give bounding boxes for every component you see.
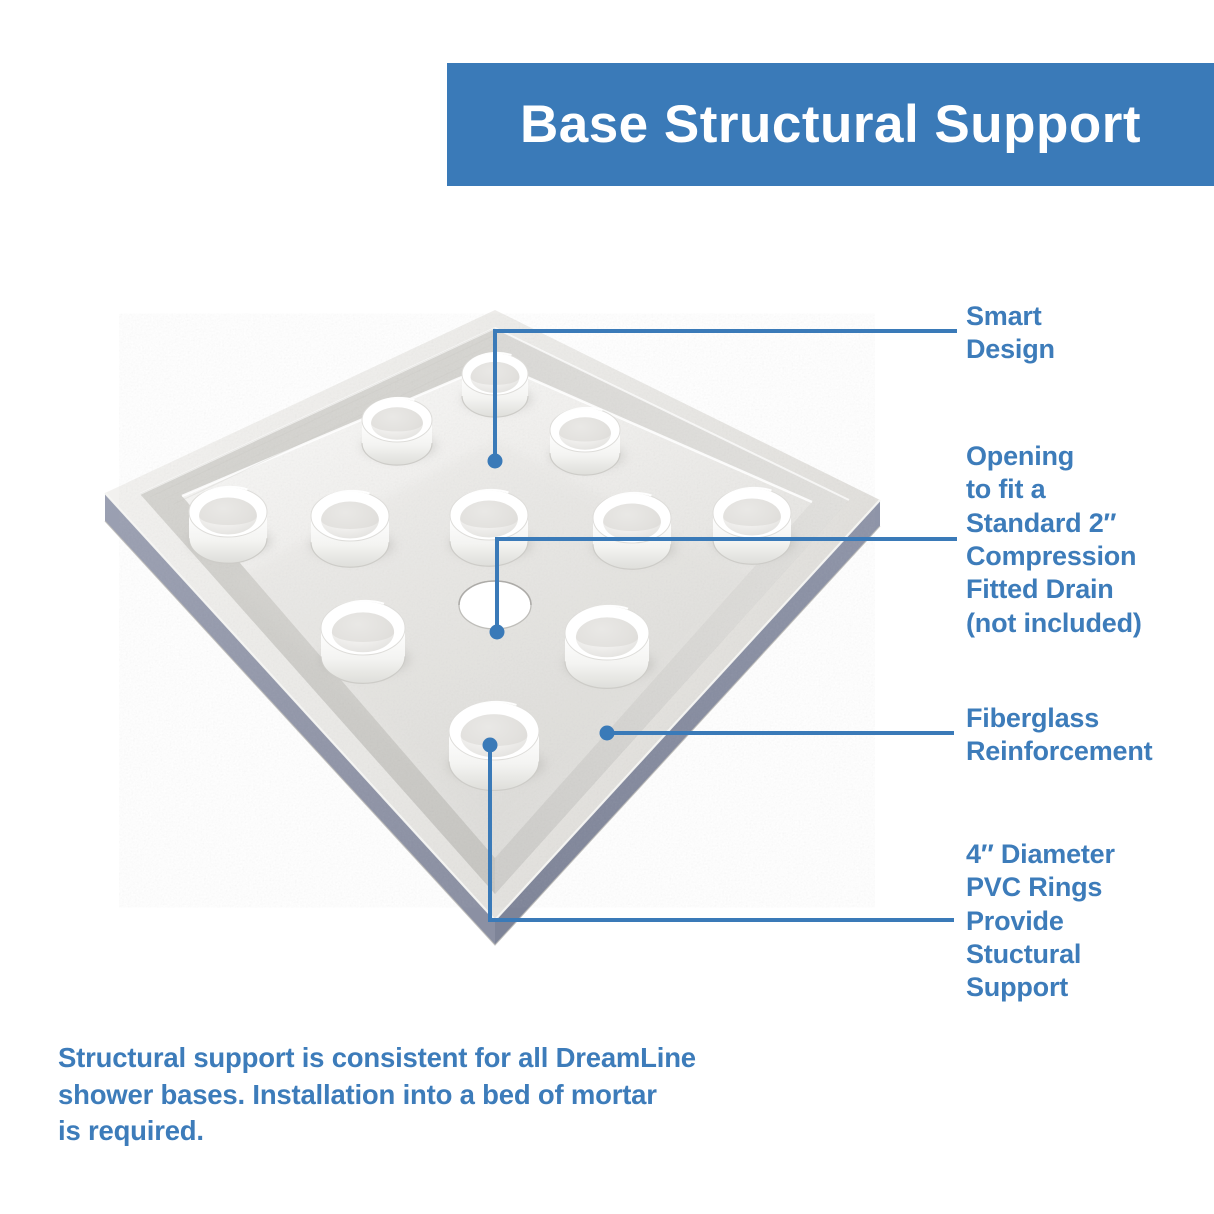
pvc-ring <box>449 490 533 566</box>
drain-opening <box>459 581 531 629</box>
header-banner: Base Structural Support <box>447 63 1214 186</box>
callout-fiberglass-reinforcement: Fiberglass Reinforcement <box>966 702 1211 769</box>
infographic-canvas: Base Structural Support <box>0 0 1214 1214</box>
page-title: Base Structural Support <box>520 98 1141 151</box>
pvc-ring <box>447 702 544 791</box>
pvc-ring <box>549 408 625 475</box>
callout-smart-design: Smart Design <box>966 300 1206 367</box>
pvc-ring <box>592 493 676 569</box>
footer-note: Structural support is consistent for all… <box>58 1040 838 1150</box>
pvc-ring <box>310 491 394 567</box>
pvc-ring <box>461 353 532 417</box>
shower-base-illustration <box>70 280 920 960</box>
pvc-ring <box>320 601 411 683</box>
callout-opening-drain: Opening to fit a Standard 2″ Compression… <box>966 440 1211 640</box>
pvc-ring <box>361 398 437 465</box>
pvc-ring <box>188 487 272 563</box>
pvc-ring <box>712 488 796 564</box>
callout-pvc-rings: 4″ Diameter PVC Rings Provide Stuctural … <box>966 838 1211 1005</box>
pvc-ring <box>564 606 655 688</box>
